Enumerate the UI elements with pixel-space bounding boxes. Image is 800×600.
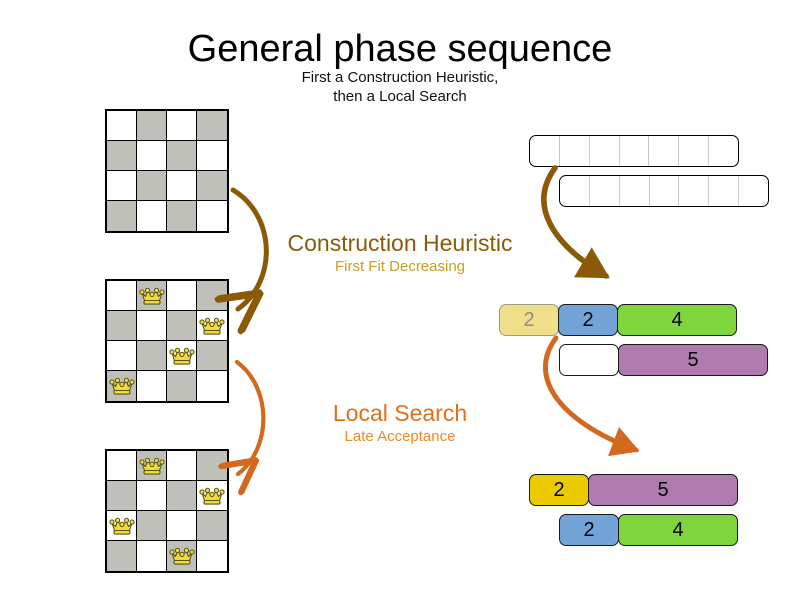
phase-label-local-search: Local Search Late Acceptance [250, 400, 550, 447]
board-cell [197, 341, 227, 371]
bin-slot [679, 136, 709, 166]
board-cell [137, 481, 167, 511]
queen-icon [169, 545, 195, 567]
queen-icon [139, 455, 165, 477]
board-cell [137, 311, 167, 341]
board-cell [107, 541, 137, 571]
board-cell [167, 311, 197, 341]
board-cell [197, 171, 227, 201]
board-cell [197, 311, 227, 341]
page-title: General phase sequence [0, 28, 800, 71]
diagram-canvas: General phase sequence First a Construct… [0, 0, 800, 600]
board-cell [197, 451, 227, 481]
board-cell [107, 451, 137, 481]
board-cell [137, 201, 167, 231]
bin-item: 2 [499, 304, 559, 336]
board-cell [137, 341, 167, 371]
empty-bin [559, 175, 769, 207]
empty-bin [529, 135, 739, 167]
board-cell [137, 511, 167, 541]
packed-bin: 224 [499, 304, 736, 336]
board-cell [197, 371, 227, 401]
board-cell [137, 451, 167, 481]
board-cell [167, 541, 197, 571]
phase-algorithm-construction-heuristic: First Fit Decreasing [250, 257, 550, 277]
board-cell [167, 141, 197, 171]
bin-item: 5 [618, 344, 768, 376]
bin-slot [560, 136, 590, 166]
chessboard-empty [105, 109, 229, 233]
board-cell [197, 281, 227, 311]
queen-icon [109, 375, 135, 397]
bin-item: 4 [617, 304, 737, 336]
board-cell [107, 201, 137, 231]
phase-algorithm-local-search: Late Acceptance [250, 427, 550, 447]
phase-name-local-search: Local Search [250, 400, 550, 427]
bin-item: 2 [529, 474, 589, 506]
board-cell [107, 141, 137, 171]
bin-slot [590, 136, 620, 166]
board-cell [197, 111, 227, 141]
board-cell [137, 141, 167, 171]
queen-icon [199, 485, 225, 507]
bin-slot [650, 176, 680, 206]
packed-bin: 24 [559, 514, 737, 546]
board-cell [107, 481, 137, 511]
board-cell [167, 511, 197, 541]
board-cell [197, 541, 227, 571]
bin-slot [560, 176, 590, 206]
chessboard-after-local-search [105, 449, 229, 573]
subtitle-line-1: First a Construction Heuristic, [0, 68, 800, 87]
board-cell [137, 171, 167, 201]
bin-slot [620, 176, 650, 206]
bin-slot [530, 136, 560, 166]
board-cell [167, 281, 197, 311]
board-cell [197, 201, 227, 231]
board-cell [137, 281, 167, 311]
phase-label-construction-heuristic: Construction Heuristic First Fit Decreas… [250, 230, 550, 277]
board-cell [107, 371, 137, 401]
board-cell [137, 371, 167, 401]
board-cell [107, 311, 137, 341]
queen-icon [169, 345, 195, 367]
board-cell [167, 371, 197, 401]
board-cell [107, 281, 137, 311]
board-cell [167, 481, 197, 511]
board-cell [107, 171, 137, 201]
board-cell [167, 171, 197, 201]
bin-slot [620, 136, 650, 166]
board-cell [167, 341, 197, 371]
bin-slot [590, 176, 620, 206]
board-cell [107, 341, 137, 371]
board-cell [107, 111, 137, 141]
bin-free-space [559, 344, 619, 376]
board-cell [197, 481, 227, 511]
board-cell [197, 141, 227, 171]
board-cell [197, 511, 227, 541]
chessboard-after-construction [105, 279, 229, 403]
packed-bin: 5 [559, 344, 767, 376]
queen-icon [109, 515, 135, 537]
board-cell [137, 541, 167, 571]
packed-bin: 25 [529, 474, 737, 506]
queen-icon [199, 315, 225, 337]
board-cell [107, 511, 137, 541]
board-cell [167, 201, 197, 231]
board-cell [137, 111, 167, 141]
bin-slot [739, 176, 768, 206]
bin-item: 5 [588, 474, 738, 506]
board-cell [167, 111, 197, 141]
queen-icon [139, 285, 165, 307]
bin-slot [649, 136, 679, 166]
bin-item: 2 [559, 514, 619, 546]
subtitle-line-2: then a Local Search [0, 87, 800, 106]
phase-name-construction-heuristic: Construction Heuristic [250, 230, 550, 257]
board-cell [167, 451, 197, 481]
bin-item: 4 [618, 514, 738, 546]
bin-item: 2 [558, 304, 618, 336]
bin-slot [709, 176, 739, 206]
page-subtitle: First a Construction Heuristic, then a L… [0, 68, 800, 106]
bin-slot [709, 136, 738, 166]
bin-slot [679, 176, 709, 206]
